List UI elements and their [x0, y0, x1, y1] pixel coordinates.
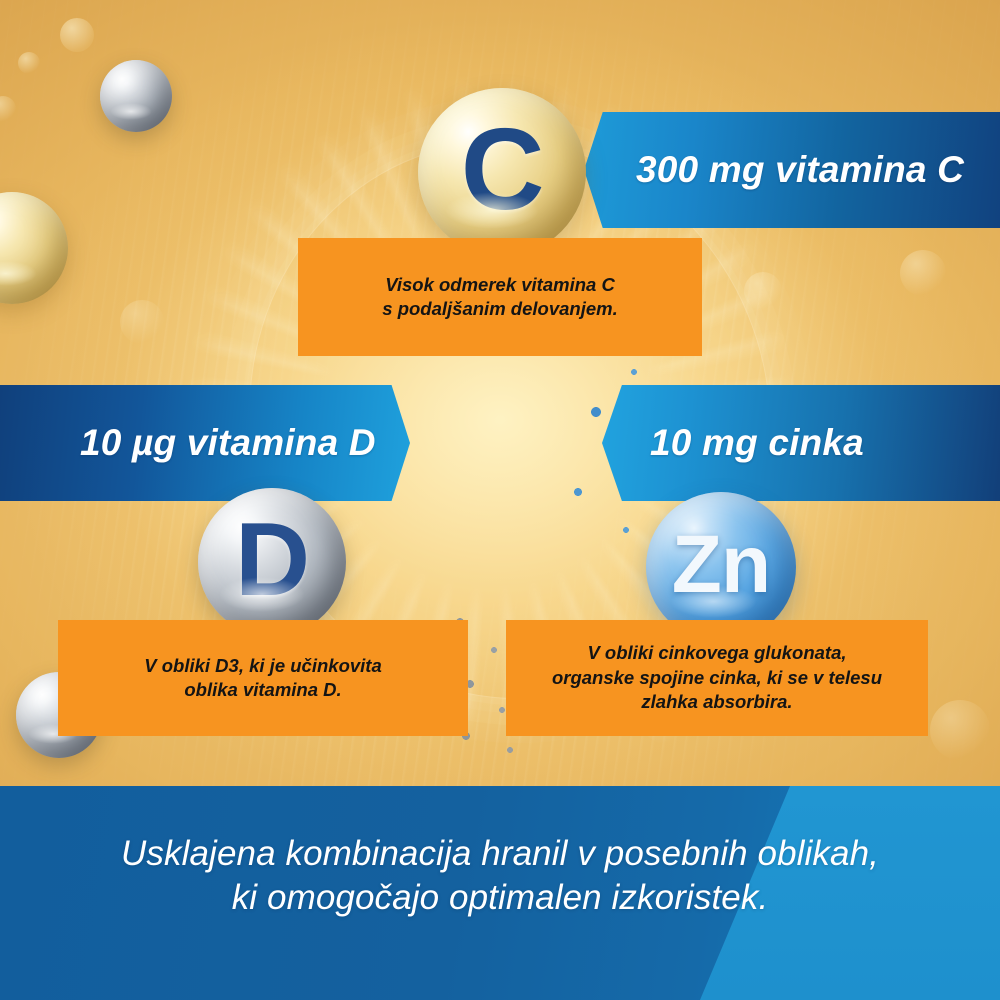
zinc-banner: 10 mg cinka	[602, 385, 1000, 501]
vitamin-c-sphere-letter: C	[418, 88, 586, 256]
zinc-description-line-2: organske spojine cinka, ki se v telesu	[552, 666, 882, 690]
vitamin-c-banner: 300 mg vitamina C	[584, 112, 1000, 228]
footer-banner: Usklajena kombinacija hranil v posebnih …	[0, 786, 1000, 1000]
nutrient-infographic-poster: 300 mg vitamina C C Visok odmerek vitami…	[0, 0, 1000, 1000]
zinc-description-line-1: V obliki cinkovega glukonata,	[552, 641, 882, 665]
bokeh-dot	[18, 52, 40, 74]
vitamin-d-description-box: V obliki D3, ki je učinkovita oblika vit…	[58, 620, 468, 736]
vitamin-d-sphere-letter: D	[198, 488, 346, 636]
zinc-banner-label: 10 mg cinka	[650, 422, 864, 464]
decorative-silver-sphere	[100, 60, 172, 132]
vitamin-c-description-line-1: Visok odmerek vitamina C	[382, 273, 617, 297]
vitamin-c-description-box: Visok odmerek vitamina C s podaljšanim d…	[298, 238, 702, 356]
zinc-description-box: V obliki cinkovega glukonata, organske s…	[506, 620, 928, 736]
footer-tagline: Usklajena kombinacija hranil v posebnih …	[0, 786, 1000, 1000]
bokeh-dot	[120, 300, 164, 344]
vitamin-d-description-line-2: oblika vitamina D.	[144, 678, 382, 702]
vitamin-d-sphere: D	[198, 488, 346, 636]
bokeh-dot	[930, 700, 990, 760]
bokeh-dot	[0, 96, 16, 122]
bokeh-dot	[60, 18, 94, 52]
zinc-description-line-3: zlahka absorbira.	[552, 690, 882, 714]
vitamin-d-banner: 10 µg vitamina D	[0, 385, 410, 501]
footer-tagline-line-1: Usklajena kombinacija hranil v posebnih …	[121, 832, 879, 876]
vitamin-d-description-line-1: V obliki D3, ki je učinkovita	[144, 654, 382, 678]
decorative-gold-sphere	[0, 192, 68, 304]
footer-tagline-line-2: ki omogočajo optimalen izkoristek.	[232, 876, 769, 920]
vitamin-d-banner-label: 10 µg vitamina D	[80, 422, 376, 464]
vitamin-c-sphere: C	[418, 88, 586, 256]
vitamin-c-description-line-2: s podaljšanim delovanjem.	[382, 297, 617, 321]
bokeh-dot	[744, 272, 782, 310]
vitamin-c-banner-label: 300 mg vitamina C	[636, 149, 964, 191]
bokeh-dot	[900, 250, 946, 296]
